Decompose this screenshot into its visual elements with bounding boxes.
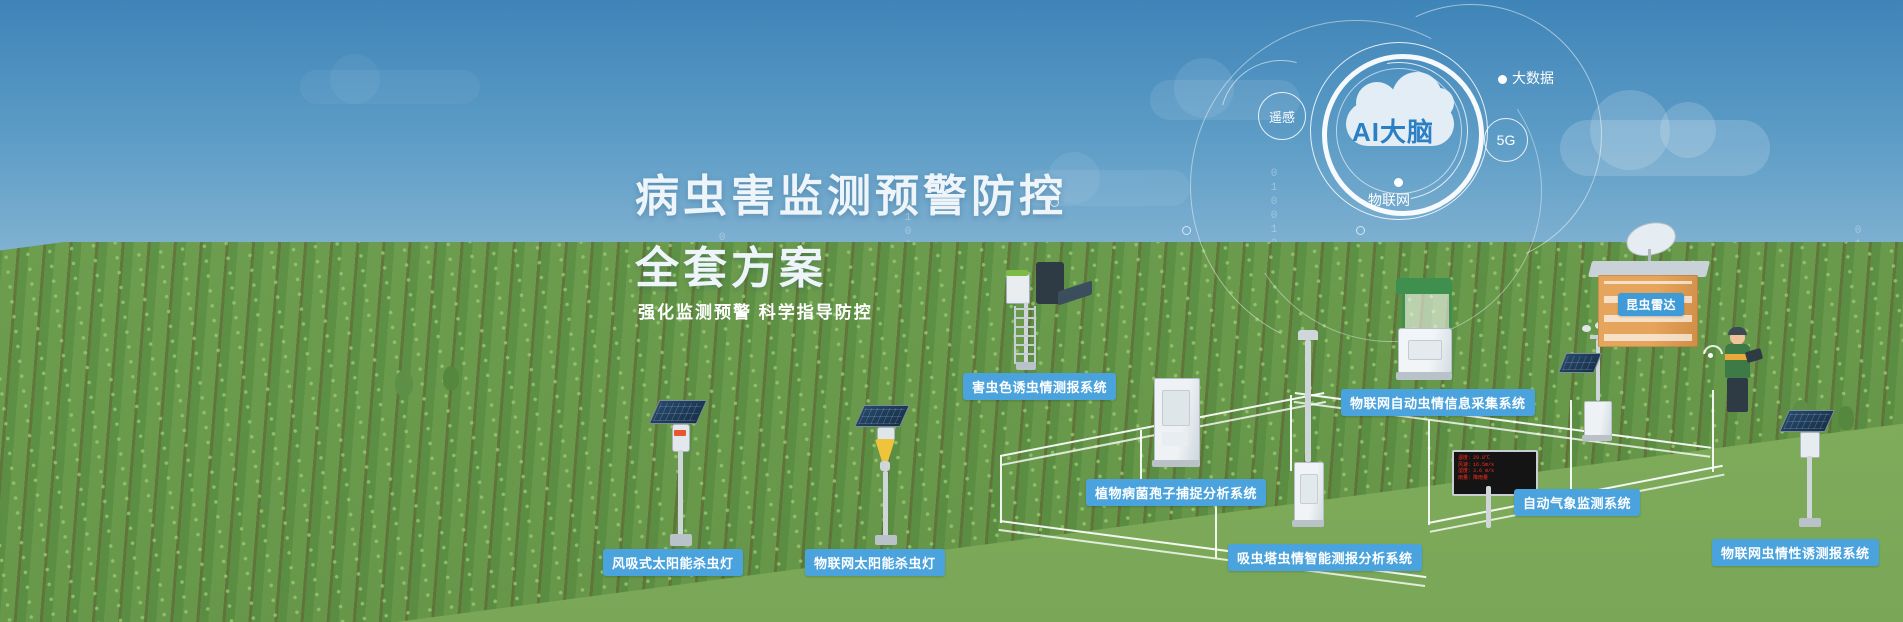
lamp-pole xyxy=(883,471,888,537)
tower-base xyxy=(1292,520,1324,527)
lamp-base xyxy=(875,535,897,545)
label-auto-weather-monitoring[interactable]: 自动气象监测系统 xyxy=(1514,489,1640,516)
pest-monitoring-banner: 010010100101 0100101100101 010010 010010… xyxy=(0,0,1903,622)
label-wind-suction-solar-insect-lamp[interactable]: 风吸式太阳能杀虫灯 xyxy=(603,549,743,576)
lamp-indicator xyxy=(674,430,686,436)
weather-cabinet xyxy=(1584,401,1612,437)
bush xyxy=(395,370,413,396)
lamp-pole xyxy=(678,450,683,536)
device-spore-capture-analysis[interactable] xyxy=(1148,378,1208,473)
collection-cup xyxy=(880,461,890,471)
label-spore-capture-analysis[interactable]: 植物病菌孢子捕捉分析系统 xyxy=(1086,479,1266,506)
connector-endpoint xyxy=(1182,226,1191,235)
lamp-base xyxy=(670,534,692,546)
ai-brain-label: AI大脑 xyxy=(1352,112,1434,149)
lamp-housing xyxy=(877,427,895,441)
bush xyxy=(443,366,459,390)
connector-endpoint xyxy=(1356,226,1365,235)
collector-base xyxy=(1396,372,1452,380)
cabinet-base xyxy=(1152,460,1200,467)
collector-hatch xyxy=(1408,340,1442,360)
worker-body xyxy=(1725,344,1750,378)
cloud-decoration xyxy=(300,70,480,104)
node-big-data-label[interactable]: 大数据 xyxy=(1512,68,1554,88)
tower-shaft xyxy=(1305,340,1311,462)
wifi-icon xyxy=(1700,340,1722,358)
cabinet-vent xyxy=(1162,390,1190,426)
collector-canopy xyxy=(1396,278,1452,294)
node-iot-label[interactable]: 物联网 xyxy=(1368,190,1410,210)
worker-legs xyxy=(1727,378,1748,412)
node-iot-dot xyxy=(1394,178,1403,187)
worker-hat xyxy=(1728,327,1747,335)
cabinet-panel xyxy=(1162,432,1188,446)
lure-trap-top xyxy=(1006,270,1028,276)
pheromone-solar-panel xyxy=(1779,410,1835,432)
device-wind-suction-solar-insect-lamp[interactable] xyxy=(648,400,718,550)
ai-brain-hub: AI大脑 遥感 大数据 5G 物联网 xyxy=(1280,30,1620,260)
ladder xyxy=(1014,306,1036,364)
weather-base xyxy=(1582,435,1612,441)
label-iot-solar-insect-lamp[interactable]: 物联网太阳能杀虫灯 xyxy=(805,549,945,576)
device-base xyxy=(1016,362,1036,370)
label-iot-auto-pest-info-collection[interactable]: 物联网自动虫情信息采集系统 xyxy=(1341,389,1535,416)
fence-post xyxy=(1215,500,1217,558)
label-color-lure-pest-forecast[interactable]: 害虫色诱虫情测报系统 xyxy=(963,373,1116,400)
device-iot-auto-pest-info-collection[interactable] xyxy=(1388,278,1468,388)
solar-panel xyxy=(649,400,708,424)
collector-cage xyxy=(1402,294,1452,328)
banner-subtitle: 强化监测预警 科学指导防控 xyxy=(638,298,873,323)
lamp-funnel xyxy=(875,439,895,461)
label-iot-pheromone-forecast[interactable]: 物联网虫情性诱测报系统 xyxy=(1712,539,1879,566)
device-iot-solar-insect-lamp[interactable] xyxy=(855,405,925,550)
fence-post xyxy=(1428,420,1430,525)
node-big-data-dot xyxy=(1498,75,1507,84)
tower-intake xyxy=(1298,330,1318,340)
solar-panel xyxy=(854,405,910,427)
node-5g[interactable]: 5G xyxy=(1484,118,1528,162)
led-display-pole xyxy=(1486,486,1491,528)
tower-door xyxy=(1300,474,1318,504)
led-line: 雨量：降雨量 xyxy=(1458,475,1532,482)
pheromone-base xyxy=(1799,518,1821,527)
label-suction-tower-smart-forecast[interactable]: 吸虫塔虫情智能测报分析系统 xyxy=(1228,544,1422,571)
fence-post xyxy=(1000,455,1002,523)
device-iot-pheromone-forecast[interactable] xyxy=(1780,410,1850,535)
pheromone-trap xyxy=(1800,432,1820,458)
pheromone-pole xyxy=(1807,456,1812,520)
radar-dish xyxy=(1623,217,1679,260)
device-color-lure-pest-forecast[interactable] xyxy=(990,262,1080,372)
connector-endpoint xyxy=(1050,198,1059,207)
label-insect-radar[interactable]: 昆虫雷达 xyxy=(1618,293,1684,316)
lamp-head xyxy=(672,424,690,452)
device-suction-tower-smart-forecast[interactable] xyxy=(1288,330,1328,545)
title-line-1: 病虫害监测预警防控 xyxy=(635,160,1067,224)
lure-trap xyxy=(1006,274,1030,304)
